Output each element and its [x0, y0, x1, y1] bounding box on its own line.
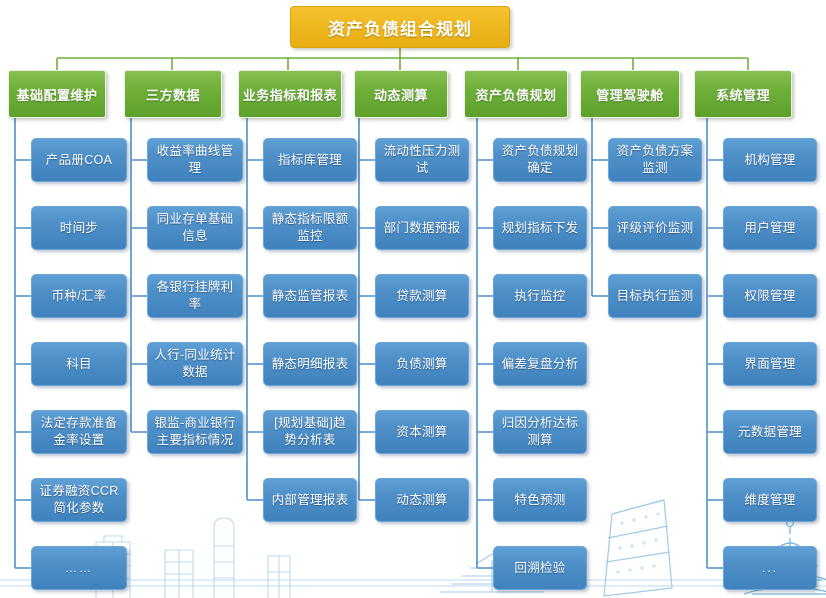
leaf-node-7-2-label: 用户管理 — [744, 220, 795, 237]
leaf-node-6-1-label: 资产负债方案监测 — [613, 143, 697, 177]
leaf-node-3-1[interactable]: 指标库管理 — [263, 138, 357, 182]
leaf-node-1-7[interactable]: …… — [31, 546, 127, 590]
leaf-node-6-2[interactable]: 评级评价监测 — [608, 206, 702, 250]
category-node-7[interactable]: 系统管理 — [694, 70, 792, 118]
leaf-node-4-5[interactable]: 资本测算 — [375, 410, 469, 454]
leaf-node-6-3[interactable]: 目标执行监测 — [608, 274, 702, 318]
leaf-node-1-3[interactable]: 币种/汇率 — [31, 274, 127, 318]
leaf-node-4-2-label: 部门数据预报 — [384, 220, 461, 237]
leaf-node-2-1[interactable]: 收益率曲线管理 — [147, 138, 243, 182]
leaf-node-5-1-label: 资产负债规划确定 — [498, 143, 582, 177]
leaf-node-4-1-label: 流动性压力测试 — [380, 143, 464, 177]
leaf-node-3-2-label: 静态指标限额监控 — [268, 211, 352, 245]
leaf-node-7-3-label: 权限管理 — [744, 288, 795, 305]
leaf-node-3-4[interactable]: 静态明细报表 — [263, 342, 357, 386]
leaf-node-5-7-label: 回溯检验 — [514, 560, 565, 577]
leaf-node-3-3-label: 静态监管报表 — [272, 288, 349, 305]
leaf-node-5-2[interactable]: 规划指标下发 — [493, 206, 587, 250]
leaf-node-4-1[interactable]: 流动性压力测试 — [375, 138, 469, 182]
leaf-node-3-3[interactable]: 静态监管报表 — [263, 274, 357, 318]
leaf-node-5-3-label: 执行监控 — [514, 288, 565, 305]
leaf-node-7-7-label: ... — [762, 560, 778, 577]
leaf-node-4-3-label: 贷款测算 — [396, 288, 447, 305]
leaf-node-5-6-label: 特色预测 — [514, 492, 565, 509]
leaf-node-4-5-label: 资本测算 — [396, 424, 447, 441]
leaf-node-3-2[interactable]: 静态指标限额监控 — [263, 206, 357, 250]
leaf-node-1-3-label: 币种/汇率 — [52, 288, 107, 305]
leaf-node-4-4[interactable]: 负债测算 — [375, 342, 469, 386]
leaf-node-2-4-label: 人行-同业统计数据 — [152, 347, 238, 381]
category-node-2-label: 三方数据 — [146, 85, 200, 104]
category-node-5[interactable]: 资产负债规划 — [464, 70, 568, 118]
leaf-node-6-2-label: 评级评价监测 — [617, 220, 694, 237]
category-node-1[interactable]: 基础配置维护 — [8, 70, 106, 118]
leaf-node-4-4-label: 负债测算 — [396, 356, 447, 373]
leaf-node-3-1-label: 指标库管理 — [278, 152, 342, 169]
leaf-node-5-7[interactable]: 回溯检验 — [493, 546, 587, 590]
category-node-2[interactable]: 三方数据 — [124, 70, 222, 118]
category-node-6[interactable]: 管理驾驶舱 — [580, 70, 680, 118]
leaf-node-7-5[interactable]: 元数据管理 — [723, 410, 817, 454]
leaf-node-7-1-label: 机构管理 — [744, 152, 795, 169]
category-node-3-label: 业务指标和报表 — [243, 85, 338, 104]
leaf-node-2-1-label: 收益率曲线管理 — [152, 143, 238, 177]
leaf-node-5-4-label: 偏差复盘分析 — [502, 356, 579, 373]
leaf-node-1-1[interactable]: 产品册COA — [31, 138, 127, 182]
category-node-4-label: 动态测算 — [374, 85, 428, 104]
leaf-node-2-5[interactable]: 银监-商业银行主要指标情况 — [147, 410, 243, 454]
leaf-node-5-1[interactable]: 资产负债规划确定 — [493, 138, 587, 182]
leaf-node-1-2-label: 时间步 — [60, 220, 98, 237]
leaf-node-6-3-label: 目标执行监测 — [617, 288, 694, 305]
leaf-node-4-6[interactable]: 动态测算 — [375, 478, 469, 522]
leaf-node-2-4[interactable]: 人行-同业统计数据 — [147, 342, 243, 386]
leaf-node-7-7[interactable]: ... — [723, 546, 817, 590]
leaf-node-7-1[interactable]: 机构管理 — [723, 138, 817, 182]
category-node-6-label: 管理驾驶舱 — [596, 85, 664, 104]
leaf-node-7-4-label: 界面管理 — [744, 356, 795, 373]
leaf-node-3-5[interactable]: [规划基础]趋势分析表 — [263, 410, 357, 454]
leaf-node-4-6-label: 动态测算 — [396, 492, 447, 509]
root-node-label: 资产负债组合规划 — [328, 15, 472, 40]
category-node-7-label: 系统管理 — [716, 85, 770, 104]
leaf-node-4-3[interactable]: 贷款测算 — [375, 274, 469, 318]
category-node-1-label: 基础配置维护 — [16, 85, 97, 104]
leaf-node-1-4-label: 科目 — [66, 356, 92, 373]
leaf-node-1-4[interactable]: 科目 — [31, 342, 127, 386]
leaf-node-3-5-label: [规划基础]趋势分析表 — [268, 415, 352, 449]
category-node-5-label: 资产负债规划 — [475, 85, 556, 104]
leaf-node-2-2[interactable]: 同业存单基础信息 — [147, 206, 243, 250]
leaf-node-5-6[interactable]: 特色预测 — [493, 478, 587, 522]
leaf-node-1-6-label: 证券融资CCR简化参数 — [36, 483, 122, 517]
leaf-node-1-2[interactable]: 时间步 — [31, 206, 127, 250]
leaf-node-1-6[interactable]: 证券融资CCR简化参数 — [31, 478, 127, 522]
leaf-node-3-6[interactable]: 内部管理报表 — [263, 478, 357, 522]
leaf-node-3-4-label: 静态明细报表 — [272, 356, 349, 373]
leaf-node-2-3-label: 各银行挂牌利率 — [152, 279, 238, 313]
leaf-node-2-5-label: 银监-商业银行主要指标情况 — [152, 415, 238, 449]
leaf-node-2-3[interactable]: 各银行挂牌利率 — [147, 274, 243, 318]
category-node-3[interactable]: 业务指标和报表 — [238, 70, 342, 118]
leaf-node-5-2-label: 规划指标下发 — [502, 220, 579, 237]
leaf-node-5-5[interactable]: 归因分析达标测算 — [493, 410, 587, 454]
root-node[interactable]: 资产负债组合规划 — [290, 6, 510, 48]
leaf-node-5-3[interactable]: 执行监控 — [493, 274, 587, 318]
leaf-node-1-1-label: 产品册COA — [46, 152, 112, 169]
leaf-node-7-5-label: 元数据管理 — [738, 424, 802, 441]
category-node-4[interactable]: 动态测算 — [354, 70, 448, 118]
leaf-node-5-5-label: 归因分析达标测算 — [498, 415, 582, 449]
leaf-node-4-2[interactable]: 部门数据预报 — [375, 206, 469, 250]
leaf-node-2-2-label: 同业存单基础信息 — [152, 211, 238, 245]
leaf-node-7-2[interactable]: 用户管理 — [723, 206, 817, 250]
leaf-node-7-4[interactable]: 界面管理 — [723, 342, 817, 386]
leaf-node-1-7-label: …… — [65, 560, 93, 577]
leaf-node-3-6-label: 内部管理报表 — [272, 492, 349, 509]
leaf-node-7-3[interactable]: 权限管理 — [723, 274, 817, 318]
leaf-node-1-5[interactable]: 法定存款准备金率设置 — [31, 410, 127, 454]
leaf-node-7-6-label: 维度管理 — [744, 492, 795, 509]
leaf-node-1-5-label: 法定存款准备金率设置 — [36, 415, 122, 449]
leaf-node-6-1[interactable]: 资产负债方案监测 — [608, 138, 702, 182]
leaf-node-5-4[interactable]: 偏差复盘分析 — [493, 342, 587, 386]
leaf-node-7-6[interactable]: 维度管理 — [723, 478, 817, 522]
org-chart: 资产负债组合规划 基础配置维护 三方数据 业务指标和报表 动态测算 资产负债规划… — [0, 0, 826, 598]
